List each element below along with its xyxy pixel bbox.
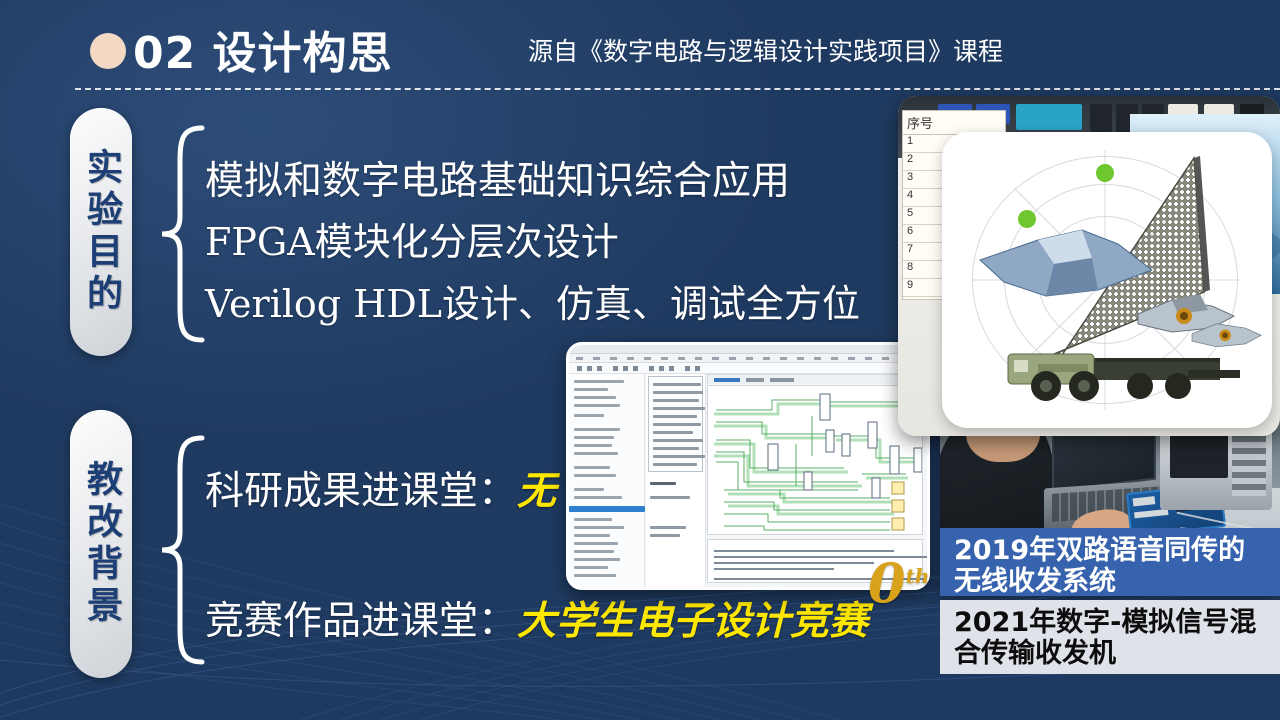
- bullet-reform-2: 竞赛作品进课堂：大学生电子设计竞赛: [205, 590, 868, 646]
- eda-view-tabs[interactable]: [707, 374, 923, 384]
- eda-menubar: [569, 354, 927, 363]
- bullet-purpose-1: 模拟和数字电路基础知识综合应用: [205, 150, 790, 206]
- bullet-purpose-2: FPGA模块化分层次设计: [205, 211, 619, 266]
- caption-2021-project: 2021年数字-模拟信号混合传输收发机: [940, 600, 1280, 674]
- bullet-reform-1-text: 科研成果进课堂：: [205, 469, 517, 514]
- section-label-teaching-reform[interactable]: 教改背景: [70, 410, 132, 678]
- page-title: 02 设计构思: [133, 17, 393, 81]
- bullet-reform-2-text: 竞赛作品进课堂：: [205, 599, 517, 644]
- pill-label-text: 实验目的: [83, 148, 119, 316]
- eda-titlebar: [569, 345, 927, 354]
- eda-sources-panel: [646, 374, 706, 587]
- bullet-reform-1-highlight: 无: [517, 469, 556, 514]
- anniversary-number: 0: [868, 551, 906, 615]
- anniversary-mark: 0th: [868, 556, 946, 618]
- eda-schematic-canvas[interactable]: [707, 385, 923, 535]
- eda-toolbar: [569, 363, 927, 374]
- left-curly-brace-icon-2: [158, 432, 206, 668]
- section-label-experiment-purpose[interactable]: 实验目的: [70, 108, 132, 356]
- pill-label-text: 教改背景: [83, 460, 119, 628]
- caption-2019-project: 2019年双路语音同传的无线收发系统: [940, 528, 1280, 596]
- slide-header: 02 设计构思 源自《数字电路与逻辑设计实践项目》课程: [0, 0, 1280, 90]
- course-source-label: 源自《数字电路与逻辑设计实践项目》课程: [528, 32, 1003, 68]
- header-divider: [75, 88, 1280, 90]
- bullet-purpose-3: Verilog HDL设计、仿真、调试全方位: [205, 273, 860, 328]
- slide-canvas: 02 设计构思 源自《数字电路与逻辑设计实践项目》课程 实验目的 模拟和数字电路…: [0, 0, 1280, 720]
- left-curly-brace-icon-1: [158, 122, 206, 346]
- bullet-reform-2-highlight: 大学生电子设计竞赛: [517, 599, 868, 644]
- anniversary-suffix: th: [906, 564, 930, 588]
- radar-illustration-card: [942, 132, 1272, 428]
- eda-flow-navigator: [569, 374, 645, 587]
- bullet-reform-1: 科研成果进课堂：无: [205, 460, 556, 516]
- bullet-dot-icon: [90, 33, 126, 69]
- phased-array-radar-vehicle-photo: 序号 1 2 3 4 5 6 7 8 9: [898, 96, 1280, 436]
